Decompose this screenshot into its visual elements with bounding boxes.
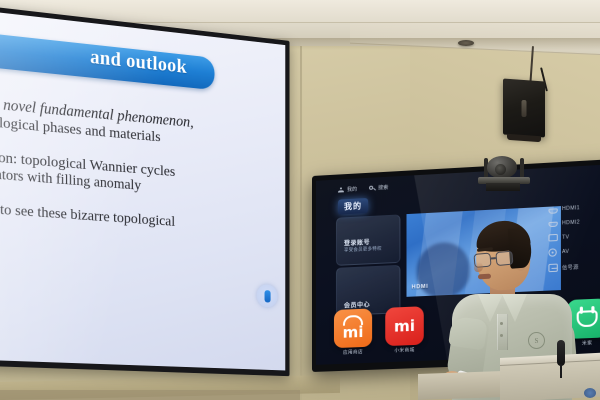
- conference-camera: [478, 156, 530, 190]
- tv-nav-account-label: 我的: [347, 186, 357, 194]
- floor-strip: [0, 390, 300, 400]
- user-icon: [338, 187, 344, 193]
- tv-app-label: 应用商店: [334, 349, 372, 357]
- presenter-placket: [497, 314, 508, 350]
- presenter-mouth: [478, 274, 491, 280]
- hdmi-icon: [548, 208, 557, 214]
- preview-source-label: HDMI: [412, 284, 429, 291]
- camera-lens-icon: [495, 164, 506, 175]
- tv-nav-item-search[interactable]: 搜索: [369, 184, 388, 192]
- mi-glyph: mi: [394, 318, 415, 334]
- projection-screen: and outlook , a novel fundamental phenom…: [0, 6, 290, 376]
- tv-card-login-account[interactable]: 登录账号 享受会员更多特权: [336, 214, 400, 265]
- glasses-lens-right: [495, 251, 513, 266]
- speaker-port: [522, 100, 527, 117]
- mi-store-icon: mi: [334, 308, 372, 348]
- tv-app-mall[interactable]: mi 小米商城: [385, 306, 424, 354]
- presenter-sleeve-left: [448, 316, 488, 351]
- slide-body: , a novel fundamental phenomenon, pologi…: [0, 95, 279, 239]
- podium-badge: [584, 388, 596, 398]
- microphone-stem: [560, 364, 562, 378]
- tv-section-title: 我的: [338, 198, 368, 215]
- ceiling-light-fixture: [458, 40, 474, 46]
- speaker-body: [503, 79, 545, 138]
- tv-source-label: HDMI1: [562, 205, 580, 212]
- podium: [500, 358, 600, 400]
- tv-nav-search-label: 搜索: [378, 184, 388, 192]
- wall-corner-seam: [300, 44, 302, 400]
- mijia-glyph: [577, 310, 598, 327]
- screen-surface: and outlook , a novel fundamental phenom…: [0, 11, 285, 370]
- presenter-nose: [474, 262, 483, 272]
- camera-mount: [486, 183, 520, 191]
- conference-room-scene: and outlook , a novel fundamental phenom…: [0, 0, 600, 400]
- mi-mall-icon: mi: [385, 306, 424, 346]
- tv-nav-item-account[interactable]: 我的: [338, 186, 357, 194]
- shopping-bag-icon: [343, 315, 363, 326]
- microphone-icon: [557, 340, 565, 366]
- tv-top-navigation: 我的 搜索: [338, 184, 388, 194]
- presenter-shirt-logo: S: [528, 332, 545, 349]
- tv-source-hdmi1[interactable]: HDMI1: [548, 204, 600, 214]
- search-icon: [369, 185, 375, 191]
- slide-nav-dot-core: [264, 290, 270, 302]
- presenter-shirt-button: [500, 322, 503, 325]
- tv-app-store[interactable]: mi 应用商店: [334, 308, 372, 356]
- tv-card-sublabel: 享受会员更多特权: [344, 246, 382, 254]
- wall-speaker: [503, 79, 545, 138]
- camera-yoke-right: [520, 158, 524, 178]
- slide-nav-indicator-icon[interactable]: [257, 284, 278, 308]
- presenter-shirt-button: [500, 334, 503, 337]
- tv-app-label: 小米商城: [385, 347, 424, 355]
- mi-glyph: mi: [343, 325, 364, 341]
